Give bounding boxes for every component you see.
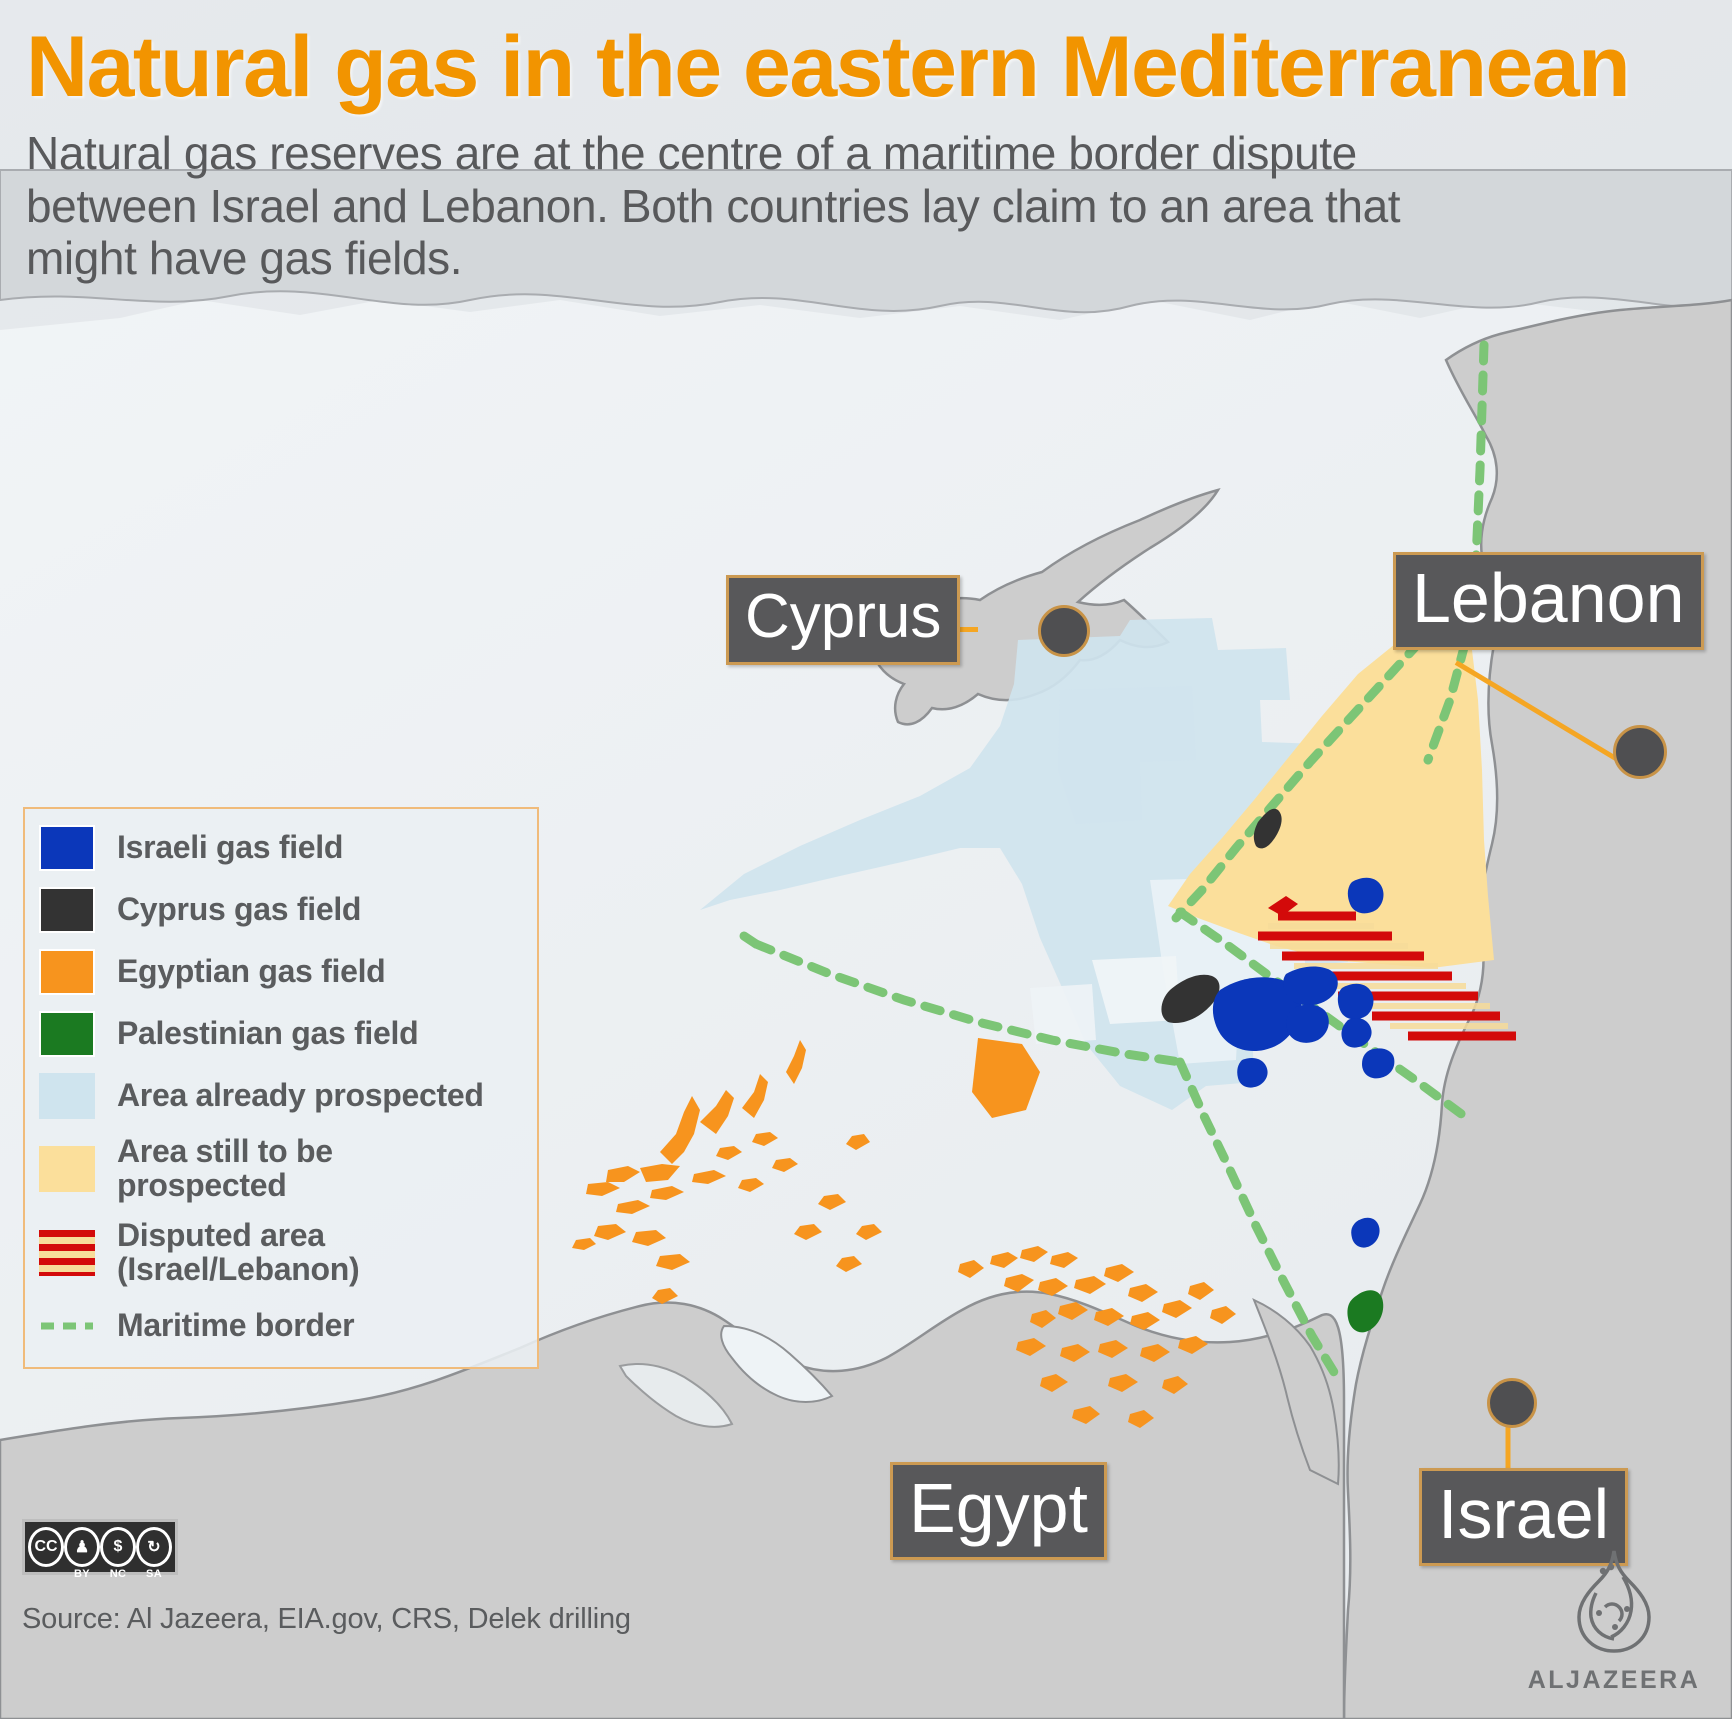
legend-label-maritime-border: Maritime border (117, 1309, 354, 1343)
al-jazeera-logo: ALJAZEERA (1524, 1547, 1704, 1695)
swatch-egyptian-gas-field (39, 949, 95, 995)
cc-nc-label: NC (110, 1568, 127, 1580)
swatch-israeli-gas-field (39, 825, 95, 871)
cc-by-icon: ♟ BY (64, 1527, 100, 1567)
legend-item-israeli-gas-field[interactable]: Israeli gas field (39, 825, 523, 871)
page-title: Natural gas in the eastern Mediterranean (26, 26, 1666, 109)
city-dot-lebanon (1613, 725, 1667, 779)
cc-by-label: BY (74, 1568, 90, 1580)
swatch-maritime-border (39, 1303, 95, 1349)
swatch-cyprus-gas-field (39, 887, 95, 933)
al-jazeera-flame-icon (1559, 1547, 1669, 1659)
source-attribution: Source: Al Jazeera, EIA.gov, CRS, Delek … (22, 1603, 631, 1636)
swatch-area-still-to-be-prospected (39, 1146, 95, 1192)
legend-item-disputed-area[interactable]: Disputed area (Israel/Lebanon) (39, 1219, 523, 1287)
legend-label-disputed-area: Disputed area (Israel/Lebanon) (117, 1219, 497, 1287)
legend-item-maritime-border[interactable]: Maritime border (39, 1303, 523, 1349)
infographic-root: Natural gas in the eastern Mediterranean… (0, 0, 1732, 1719)
header: Natural gas in the eastern Mediterranean… (26, 26, 1666, 285)
al-jazeera-wordmark: ALJAZEERA (1524, 1666, 1704, 1695)
legend-label-palestinian-gas-field: Palestinian gas field (117, 1017, 418, 1051)
legend-item-egyptian-gas-field[interactable]: Egyptian gas field (39, 949, 523, 995)
swatch-area-already-prospected (39, 1073, 95, 1119)
page-subtitle: Natural gas reserves are at the centre o… (26, 127, 1496, 284)
legend-item-area-already-prospected[interactable]: Area already prospected (39, 1073, 523, 1119)
city-dot-israel (1487, 1378, 1537, 1428)
legend-label-area-already-prospected: Area already prospected (117, 1079, 484, 1113)
legend-item-area-still-to-be-prospected[interactable]: Area still to be prospected (39, 1135, 523, 1203)
swatch-disputed-area (39, 1230, 95, 1276)
swatch-palestinian-gas-field (39, 1011, 95, 1057)
map-label-egypt[interactable]: Egypt (890, 1462, 1107, 1560)
cc-sa-icon: ↻ SA (136, 1527, 172, 1567)
legend-item-palestinian-gas-field[interactable]: Palestinian gas field (39, 1011, 523, 1057)
legend: Israeli gas field Cyprus gas field Egypt… (23, 807, 539, 1369)
map-label-cyprus[interactable]: Cyprus (726, 575, 960, 665)
legend-label-egyptian-gas-field: Egyptian gas field (117, 955, 385, 989)
creative-commons-badge[interactable]: CC ♟ BY $ NC ↻ SA (22, 1519, 178, 1575)
legend-label-area-still-to-be-prospected: Area still to be prospected (117, 1135, 487, 1203)
cc-sa-label: SA (146, 1568, 162, 1580)
legend-item-cyprus-gas-field[interactable]: Cyprus gas field (39, 887, 523, 933)
cc-nc-icon: $ NC (100, 1527, 136, 1567)
cc-icon: CC (28, 1527, 64, 1567)
legend-label-israeli-gas-field: Israeli gas field (117, 831, 343, 865)
legend-label-cyprus-gas-field: Cyprus gas field (117, 893, 361, 927)
city-dot-cyprus (1038, 605, 1090, 657)
map-label-lebanon[interactable]: Lebanon (1393, 552, 1704, 650)
